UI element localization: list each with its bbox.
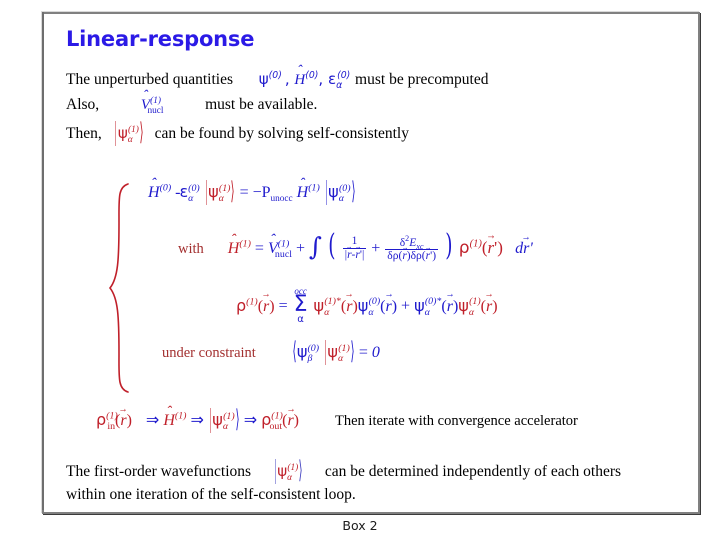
equation-3-lhs: ρ(1)(r): [236, 298, 279, 315]
right-paren: ): [445, 228, 452, 263]
equation-2-xc-fraction: δ2Exc δρ(r)δρ(r'): [385, 234, 438, 264]
intro-line-2-prefix: Also,: [66, 96, 99, 113]
equation-1-minus: −: [253, 184, 262, 201]
page-title: Linear-response: [66, 27, 254, 51]
equation-2-coulomb-fraction: 1 |r-r'|: [343, 235, 367, 262]
slide-frame: Linear-response The unperturbed quantiti…: [42, 12, 700, 514]
coulomb-denominator: |r-r'|: [343, 248, 367, 262]
iteration-arrow-3: ⇒: [244, 410, 257, 429]
closing-line-1-math: |ψα(1)⟩: [273, 464, 307, 480]
equation-4-equals: =: [359, 344, 368, 361]
xc-denominator: δρ(r)δρ(r'): [385, 249, 438, 263]
intro-line-1-suffix: must be precomputed: [355, 71, 488, 88]
slide-caption: Box 2: [0, 518, 720, 533]
intro-line-1-prefix: The unperturbed quantities: [66, 71, 233, 88]
closing-line-1: The first-order wavefunctions |ψα(1)⟩ ca…: [66, 462, 621, 481]
equation-2-plus: +: [296, 240, 305, 257]
intro-line-3-prefix: Then,: [66, 125, 102, 142]
equation-3-plus: +: [401, 298, 410, 315]
iteration-note: Then iterate with convergence accelerato…: [335, 413, 578, 429]
iteration-line: ρ(1)in(r) ⇒ H(1) ⇒ |ψα(1)⟩ ⇒ ρ(1)out(r) …: [96, 410, 578, 430]
equation-1-lhs: H(0) -εα(0): [148, 184, 204, 201]
equation-2-rho: ρ(1)(r'): [459, 238, 507, 257]
equation-4-label: under constraint: [162, 345, 256, 361]
equation-3-equals: =: [279, 298, 288, 315]
equation-4: under constraint ⟨ψβ(0) |ψα(1)⟩ = 0: [162, 342, 380, 362]
sigma-icon: Σ: [294, 296, 308, 315]
equation-2-label: with: [178, 241, 204, 257]
equation-2-inner-plus: +: [371, 240, 380, 257]
closing-line-2: within one iteration of the self-consist…: [66, 486, 356, 504]
intro-line-2-suffix: must be available.: [205, 96, 317, 113]
equation-2-vnucl: V(1)nucl: [268, 240, 296, 257]
intro-line-3-math: |ψα(1)⟩: [113, 126, 147, 142]
equation-1-equals: =: [240, 184, 249, 201]
equation-1: H(0) -εα(0) |ψα(1)⟩ = −Punocc H(1) |ψα(0…: [148, 182, 356, 202]
equation-3-term-1: ψα(1)*(r)ψα(0)(r): [314, 298, 401, 315]
iteration-rho-out: ρ(1)out(r): [261, 412, 303, 429]
equation-3: ρ(1)(r) = occ Σ α ψα(1)*(r)ψα(0)(r) + ψα…: [236, 288, 498, 326]
equation-4-value: 0: [372, 344, 380, 361]
equation-2: with H(1) = V(1)nucl + ∫ ( 1 |r-r'| + δ2…: [178, 226, 533, 264]
closing-line-1-suffix: can be determined independently of each …: [325, 463, 621, 480]
equation-4-bar-and-ket: |ψα(1)⟩: [323, 344, 359, 361]
iteration-rho-in: ρ(1)in(r): [96, 412, 136, 429]
equation-2-equals: =: [255, 240, 264, 257]
iteration-ket: |ψα(1)⟩: [208, 412, 244, 429]
equation-group-brace: [102, 182, 136, 394]
iteration-hamiltonian: H(1): [163, 412, 190, 429]
intro-line-1: The unperturbed quantities ψ(0), H(0), ε…: [66, 70, 489, 89]
equation-4-bra: ⟨ψβ(0): [292, 344, 323, 361]
equation-1-ket-1: |ψα(1)⟩: [204, 184, 240, 201]
intro-line-1-math: ψ(0), H(0), εα(0): [259, 70, 355, 88]
intro-line-3: Then, |ψα(1)⟩ can be found by solving se…: [66, 124, 409, 143]
intro-line-2: Also, V(1)nucl must be available.: [66, 96, 317, 114]
closing-line-1-prefix: The first-order wavefunctions: [66, 463, 251, 480]
equation-3-term-2: ψα(0)*(r)ψα(1)(r): [414, 298, 497, 315]
intro-line-2-math: V(1)nucl: [141, 97, 167, 113]
equation-1-ket-2: |ψα(0)⟩: [324, 184, 356, 201]
iteration-arrow-2: ⇒: [190, 410, 203, 429]
integral-icon: ∫: [309, 232, 322, 261]
equation-2-measure: dr': [515, 240, 533, 257]
equation-1-rhs: −Punocc H(1): [253, 184, 324, 201]
equation-2-lhs: H(1): [228, 240, 255, 257]
summation-symbol: occ Σ α: [294, 287, 308, 325]
left-paren: (: [328, 228, 335, 263]
intro-line-3-suffix: can be found by solving self-consistentl…: [155, 125, 409, 142]
iteration-arrow-1: ⇒: [146, 410, 159, 429]
